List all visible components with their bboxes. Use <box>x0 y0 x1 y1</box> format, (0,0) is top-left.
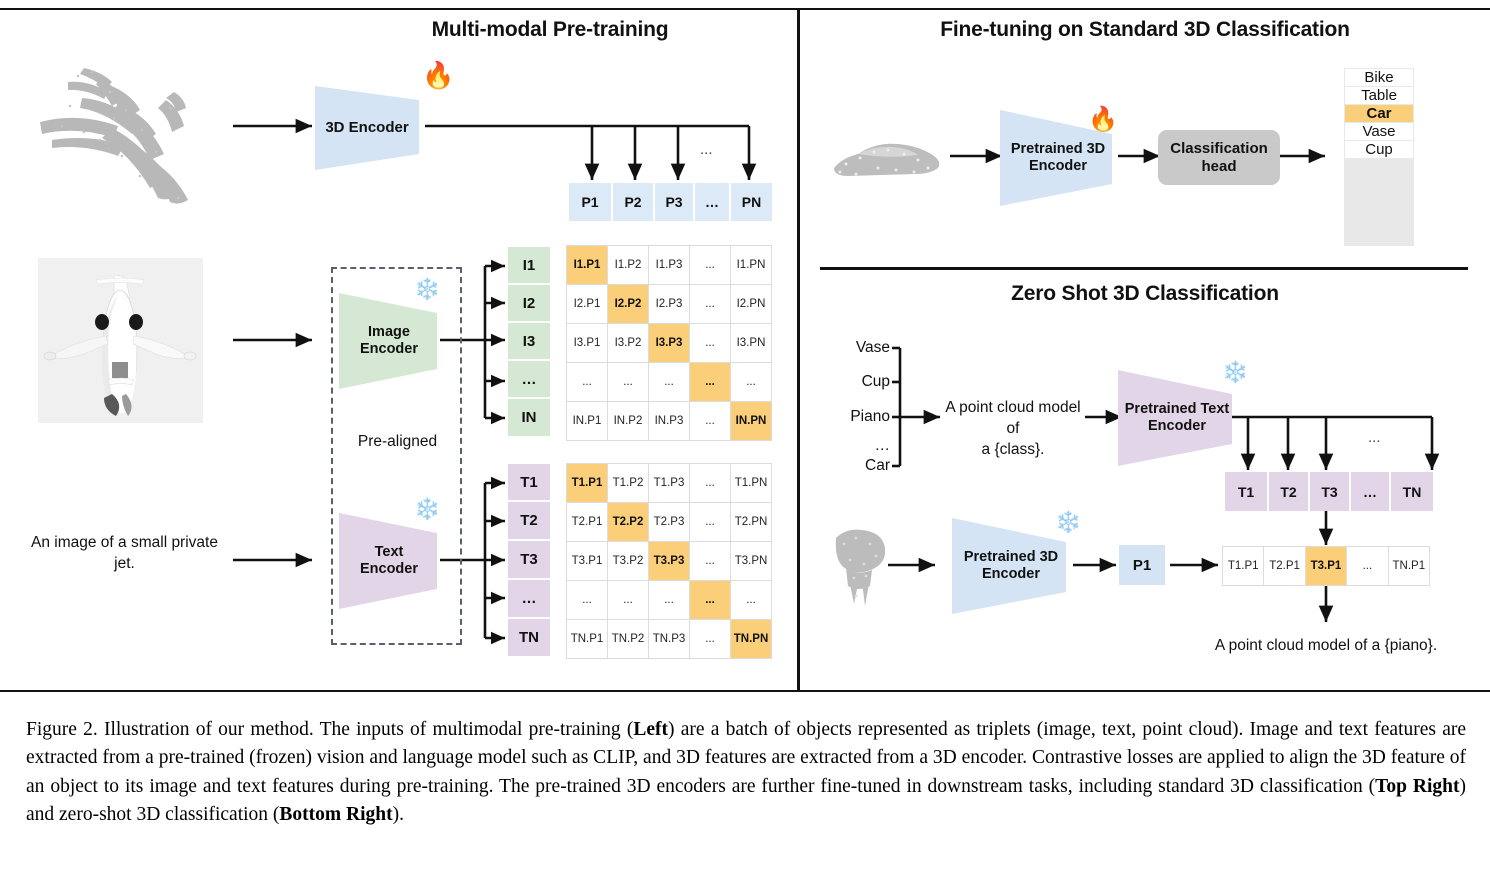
zeroshot-score-row: T1.P1T2.P1T3.P1...TN.P1 <box>1222 546 1430 586</box>
text-matrix-cell: ... <box>690 581 730 619</box>
text-matrix-cell: T1.PN <box>731 464 771 502</box>
text-matrix-cell: TN.P1 <box>567 620 607 658</box>
input-text-caption: An image of a small private jet. <box>22 533 227 575</box>
image-matrix-cell: I3.P3 <box>649 324 689 362</box>
text-matrix-cell: T3.PN <box>731 542 771 580</box>
prompt-template: A point cloud model of a {class}. <box>938 398 1088 461</box>
private-jet-render <box>38 258 203 423</box>
zeroshot-t-token[interactable]: T2 <box>1269 472 1310 511</box>
image-matrix-cell: ... <box>608 363 648 401</box>
zeroshot-score-cell: TN.P1 <box>1389 547 1429 585</box>
encoder-text[interactable]: Text Encoder <box>339 513 443 609</box>
text-matrix-cell: ... <box>690 503 730 541</box>
text-matrix-cell: ... <box>567 581 607 619</box>
airplane-point-cloud <box>22 48 232 208</box>
image-matrix-cell: I2.P2 <box>608 285 648 323</box>
input-text-value: An image of a small private jet. <box>31 534 218 572</box>
zeroshot-t-ellipsis: ... <box>1368 428 1381 448</box>
text-matrix-cell: T2.P2 <box>608 503 648 541</box>
image-matrix-cell: I1.P1 <box>567 246 607 284</box>
image-similarity-matrix: I1.P1I1.P2I1.P3...I1.PNI2.P1I2.P2I2.P3..… <box>566 245 772 441</box>
text-matrix-cell: T3.P1 <box>567 542 607 580</box>
p-token[interactable]: P2 <box>613 183 655 221</box>
text-similarity-matrix: T1.P1T1.P2T1.P3...T1.PNT2.P1T2.P2T2.P3..… <box>566 463 772 659</box>
image-matrix-cell: ... <box>690 324 730 362</box>
p-token[interactable]: P1 <box>569 183 613 221</box>
image-matrix-cell: I3.P2 <box>608 324 648 362</box>
vertical-divider <box>797 10 800 690</box>
classification-head[interactable]: Classification head <box>1158 130 1280 185</box>
i-token-column: I1 I2 I3 … IN <box>508 247 550 440</box>
zeroshot-class-name: Piano <box>826 407 890 428</box>
classification-head-label: Classification head <box>1170 140 1268 176</box>
figure-root: Multi-modal Pre-training <box>0 0 1490 888</box>
image-matrix-cell: ... <box>690 285 730 323</box>
p-token-row: P1 P2 P3 … PN <box>569 183 772 221</box>
pretrained-text-encoder[interactable]: Pretrained Text Encoder <box>1118 370 1240 466</box>
text-matrix-cell: T1.P2 <box>608 464 648 502</box>
image-matrix-cell: ... <box>731 363 771 401</box>
t-token[interactable]: … <box>508 580 550 619</box>
class-list-item[interactable]: Cup <box>1345 141 1413 158</box>
text-matrix-cell: T3.P2 <box>608 542 648 580</box>
caption-emphasis: Left <box>633 719 668 740</box>
encoder-image[interactable]: Image Encoder <box>339 293 443 389</box>
zeroshot-p-token[interactable]: P1 <box>1119 545 1167 585</box>
image-matrix-cell: IN.P1 <box>567 402 607 440</box>
zeroshot-t-token-row: T1 T2 T3 … TN <box>1225 472 1433 511</box>
text-matrix-cell: ... <box>731 581 771 619</box>
caption-emphasis: Top Right <box>1375 776 1459 797</box>
zeroshot-score-cell: T1.P1 <box>1223 547 1263 585</box>
zeroshot-score-cell: T3.P1 <box>1306 547 1346 585</box>
p-token[interactable]: PN <box>731 183 772 221</box>
text-matrix-cell: TN.PN <box>731 620 771 658</box>
image-matrix-cell: IN.P2 <box>608 402 648 440</box>
figure-caption: Figure 2. Illustration of our method. Th… <box>26 716 1466 829</box>
car-point-cloud <box>826 128 942 190</box>
text-matrix-cell: ... <box>608 581 648 619</box>
image-matrix-cell: I3.P1 <box>567 324 607 362</box>
top-right-panel-title: Fine-tuning on Standard 3D Classificatio… <box>815 18 1475 42</box>
class-list-item[interactable]: Bike <box>1345 69 1413 86</box>
bottom-right-panel-title: Zero Shot 3D Classification <box>815 282 1475 306</box>
zeroshot-t-token[interactable]: … <box>1351 472 1391 511</box>
encoder-3d-label: 3D Encoder <box>325 119 408 136</box>
i-token[interactable]: I2 <box>508 285 550 323</box>
t-token[interactable]: T1 <box>508 464 550 502</box>
image-matrix-cell: I2.P3 <box>649 285 689 323</box>
piano-point-cloud <box>830 522 890 612</box>
text-matrix-cell: T3.P3 <box>649 542 689 580</box>
i-token[interactable]: I1 <box>508 247 550 285</box>
zeroshot-t-token[interactable]: T1 <box>1225 472 1269 511</box>
class-list-item[interactable]: Table <box>1345 87 1413 104</box>
image-matrix-cell: ... <box>649 363 689 401</box>
text-matrix-cell: T1.P3 <box>649 464 689 502</box>
t-token-column: T1 T2 T3 … TN <box>508 464 550 658</box>
zeroshot-class-name: Vase <box>836 338 890 359</box>
horizontal-divider <box>820 267 1468 270</box>
caption-text: Figure 2. Illustration of our method. Th… <box>26 719 633 740</box>
class-list-item[interactable]: Car <box>1345 105 1413 122</box>
zeroshot-t-token[interactable]: TN <box>1391 472 1433 511</box>
pretrained-text-encoder-label: Pretrained Text Encoder <box>1125 401 1230 434</box>
pretrained-3d-encoder-finetune[interactable]: Pretrained 3D Encoder <box>1000 110 1120 206</box>
image-matrix-cell: I3.PN <box>731 324 771 362</box>
caption-text: ). <box>393 804 404 825</box>
image-matrix-cell: ... <box>690 363 730 401</box>
image-matrix-cell: I1.P3 <box>649 246 689 284</box>
caption-emphasis: Bottom Right <box>279 804 392 825</box>
i-token[interactable]: … <box>508 361 550 399</box>
pretrained-3d-encoder-label: Pretrained 3D Encoder <box>1011 141 1105 174</box>
i-token[interactable]: IN <box>508 399 550 436</box>
classification-output-list: BikeTableCarVaseCup <box>1344 68 1414 246</box>
t-token[interactable]: T2 <box>508 502 550 541</box>
encoder-3d[interactable]: 3D Encoder <box>315 86 427 170</box>
t-token[interactable]: TN <box>508 619 550 656</box>
image-matrix-cell: ... <box>690 246 730 284</box>
text-matrix-cell: TN.P2 <box>608 620 648 658</box>
t-token[interactable]: T3 <box>508 541 550 580</box>
image-matrix-cell: I2.P1 <box>567 285 607 323</box>
text-matrix-cell: ... <box>690 542 730 580</box>
prealigned-label: Pre-aligned <box>340 432 455 453</box>
zeroshot-t-token[interactable]: T3 <box>1310 472 1351 511</box>
text-matrix-cell: ... <box>649 581 689 619</box>
pretrained-3d-encoder-zeroshot-label: Pretrained 3D Encoder <box>964 549 1058 582</box>
image-matrix-cell: IN.P3 <box>649 402 689 440</box>
text-matrix-cell: T2.PN <box>731 503 771 541</box>
caption-top-rule <box>0 690 1490 692</box>
image-matrix-cell: I2.PN <box>731 285 771 323</box>
text-matrix-cell: ... <box>690 620 730 658</box>
text-matrix-cell: T1.P1 <box>567 464 607 502</box>
zeroshot-score-cell: T2.P1 <box>1264 547 1304 585</box>
p-token-ellipsis: ... <box>700 140 713 160</box>
i-token[interactable]: I3 <box>508 323 550 361</box>
p-token[interactable]: P3 <box>655 183 695 221</box>
text-matrix-cell: T2.P1 <box>567 503 607 541</box>
image-matrix-cell: ... <box>567 363 607 401</box>
fire-icon: 🔥 <box>422 62 454 88</box>
left-panel-title: Multi-modal Pre-training <box>290 18 810 42</box>
zeroshot-class-name: Cup <box>836 372 890 393</box>
image-matrix-cell: I1.P2 <box>608 246 648 284</box>
image-matrix-cell: IN.PN <box>731 402 771 440</box>
zeroshot-score-cell: ... <box>1347 547 1387 585</box>
p-token[interactable]: … <box>695 183 731 221</box>
figure-top-rule <box>0 8 1490 10</box>
text-matrix-cell: ... <box>690 464 730 502</box>
pretrained-3d-encoder-zeroshot[interactable]: Pretrained 3D Encoder <box>952 518 1074 614</box>
text-matrix-cell: T2.P3 <box>649 503 689 541</box>
encoder-text-label: Text Encoder <box>360 544 418 577</box>
zeroshot-class-name: … <box>836 436 890 457</box>
class-list-item[interactable]: Vase <box>1345 123 1413 140</box>
image-matrix-cell: ... <box>690 402 730 440</box>
encoder-image-label: Image Encoder <box>360 324 418 357</box>
text-matrix-cell: TN.P3 <box>649 620 689 658</box>
zeroshot-output-text: A point cloud model of a {piano}. <box>1180 636 1472 657</box>
zeroshot-class-name: Car <box>836 456 890 477</box>
image-matrix-cell: I1.PN <box>731 246 771 284</box>
